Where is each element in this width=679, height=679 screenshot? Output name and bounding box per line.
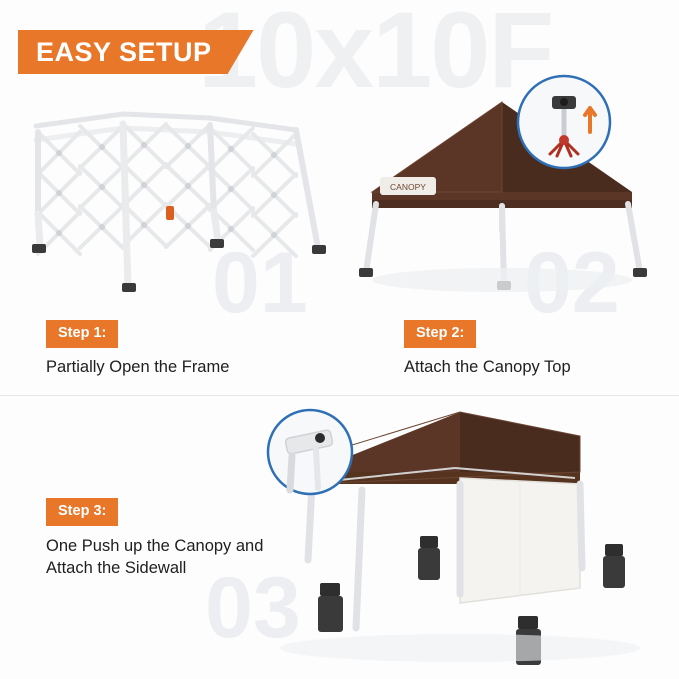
banner-body: EASY SETUP: [18, 30, 228, 74]
step-2-tag: Step 2:: [404, 320, 476, 348]
step-3-description: One Push up the Canopy and Attach the Si…: [46, 535, 306, 580]
step-2-description: Attach the Canopy Top: [404, 356, 571, 378]
sidewall-illustration-svg: [250, 398, 670, 670]
step-3-tag: Step 3:: [46, 498, 118, 526]
easy-setup-banner: EASY SETUP: [18, 30, 254, 74]
banner-arrow-shape: [228, 30, 254, 74]
detail-callout-push: [268, 410, 352, 494]
svg-text:CANOPY: CANOPY: [390, 182, 426, 192]
frame-feet: [32, 239, 326, 292]
canopy-logo-patch: CANOPY: [380, 177, 436, 195]
section-divider: [0, 395, 679, 396]
center-pull-handle: [166, 206, 174, 220]
step-1-tag: Step 1:: [46, 320, 118, 348]
sidewall-panel: [460, 478, 580, 603]
detail-callout-hook: [518, 76, 610, 168]
step-1-description: Partially Open the Frame: [46, 356, 229, 378]
banner-label: EASY SETUP: [36, 39, 212, 66]
infographic-page: 10x10F EASY SETUP 01 02 03: [0, 0, 679, 679]
illustration-step-1: [18, 96, 348, 306]
frame-illustration-svg: [18, 96, 348, 306]
illustration-step-3: [250, 398, 670, 670]
canopy-top-illustration-svg: CANOPY: [352, 80, 672, 300]
illustration-step-2: CANOPY: [352, 80, 672, 300]
